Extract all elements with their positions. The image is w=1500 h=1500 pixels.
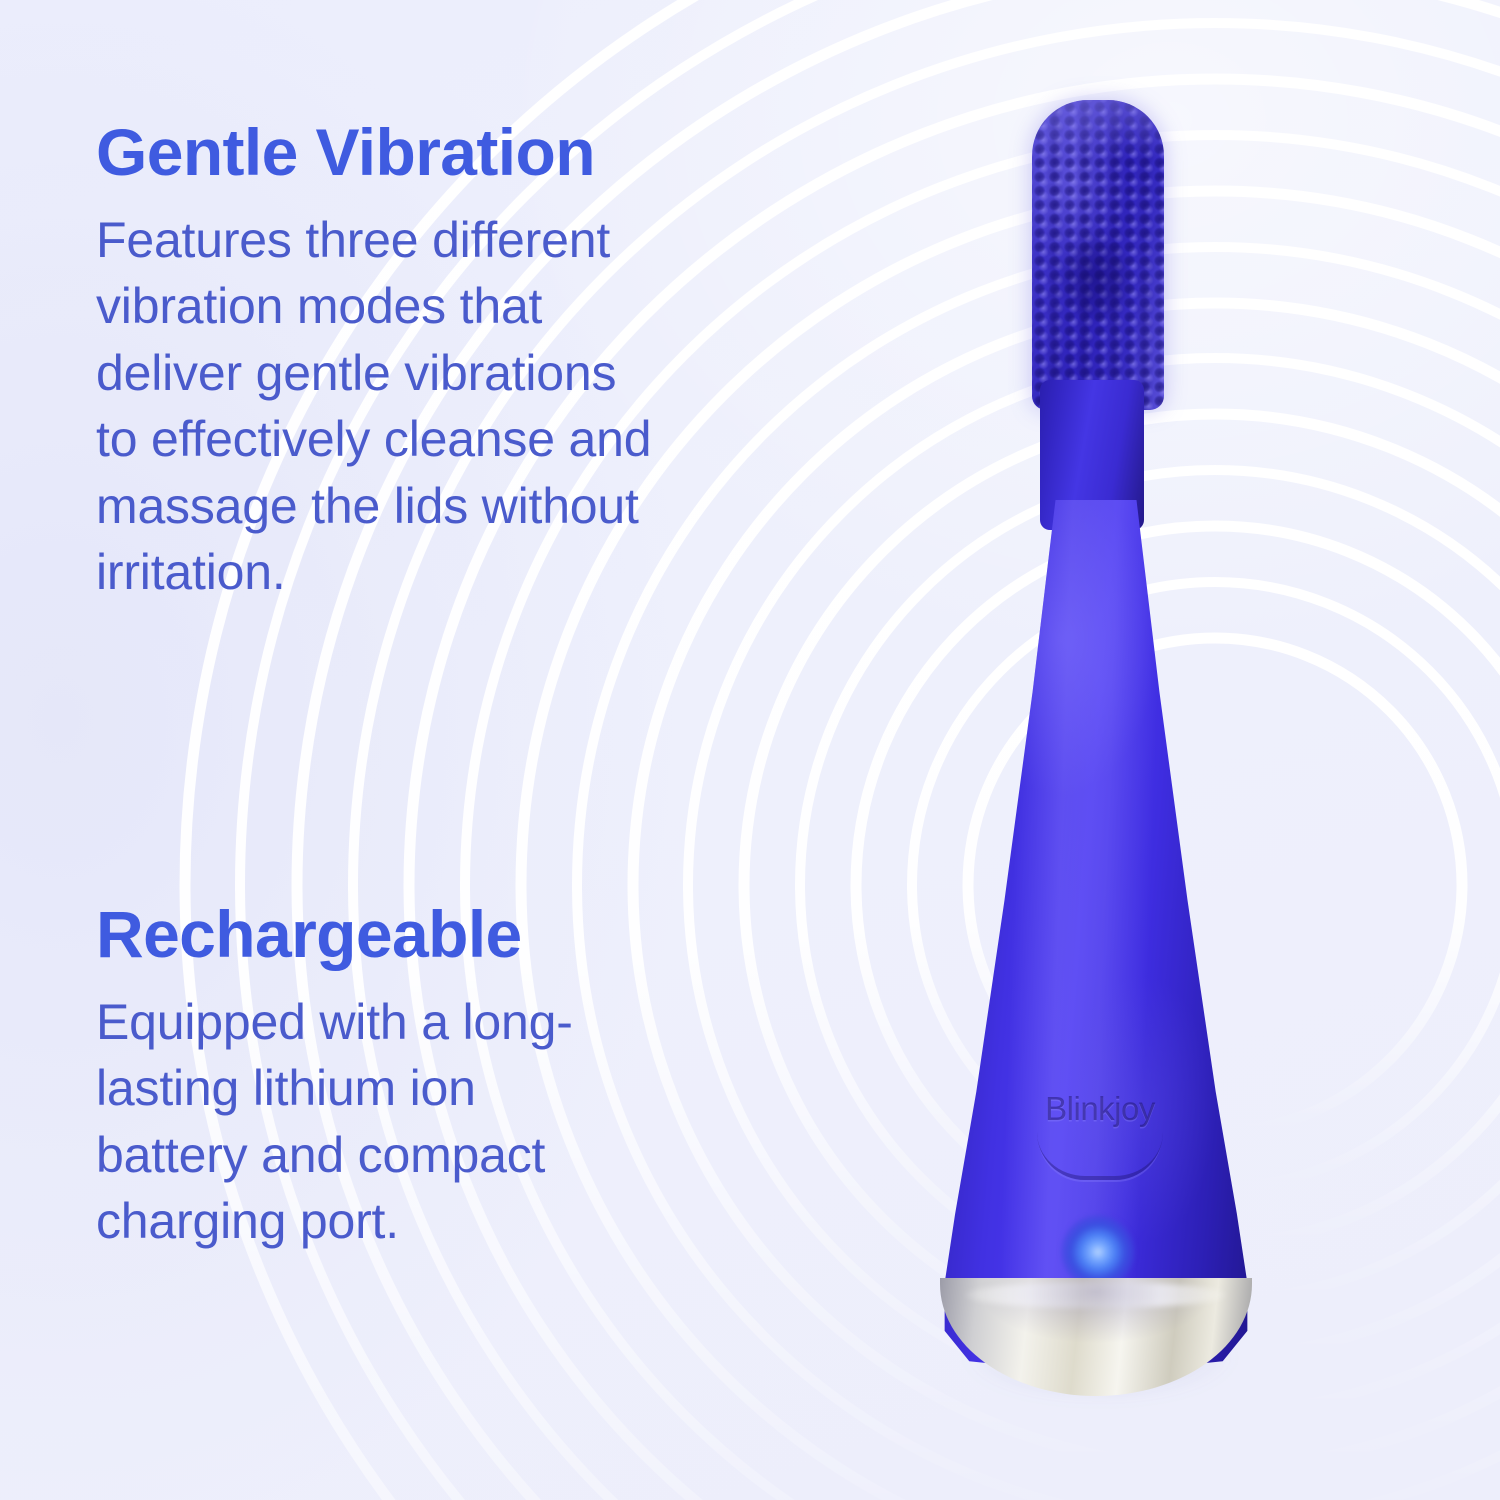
body-line: Equipped with a long- (96, 989, 856, 1056)
body-line: irritation. (96, 539, 886, 606)
body-line: to effectively cleanse and (96, 406, 886, 473)
brand-logo: Blinkjoy (1008, 1092, 1192, 1200)
body-line: charging port. (96, 1188, 856, 1255)
brush-tip-highlight (1032, 100, 1164, 158)
body-line: massage the lids without (96, 473, 886, 540)
brand-logo-text: Blinkjoy (1045, 1092, 1155, 1125)
feature-heading-rechargeable: Rechargeable (96, 900, 856, 969)
body-line: battery and compact (96, 1122, 856, 1189)
feature-heading-gentle-vibration: Gentle Vibration (96, 118, 886, 187)
brush-head-icon (1032, 100, 1164, 410)
brand-logo-smile-icon (1037, 1132, 1163, 1180)
feature-body-rechargeable: Equipped with a long- lasting lithium io… (96, 989, 856, 1255)
body-line: Features three different (96, 207, 886, 274)
feature-body-gentle-vibration: Features three different vibration modes… (96, 207, 886, 606)
body-line: deliver gentle vibrations (96, 340, 886, 407)
brush-center-cluster (1050, 222, 1146, 340)
feature-block-gentle-vibration: Gentle Vibration Features three differen… (96, 118, 886, 606)
body-line: vibration modes that (96, 273, 886, 340)
feature-block-rechargeable: Rechargeable Equipped with a long- lasti… (96, 900, 856, 1255)
body-line: lasting lithium ion (96, 1055, 856, 1122)
product-feature-banner: Gentle Vibration Features three differen… (0, 0, 1500, 1500)
